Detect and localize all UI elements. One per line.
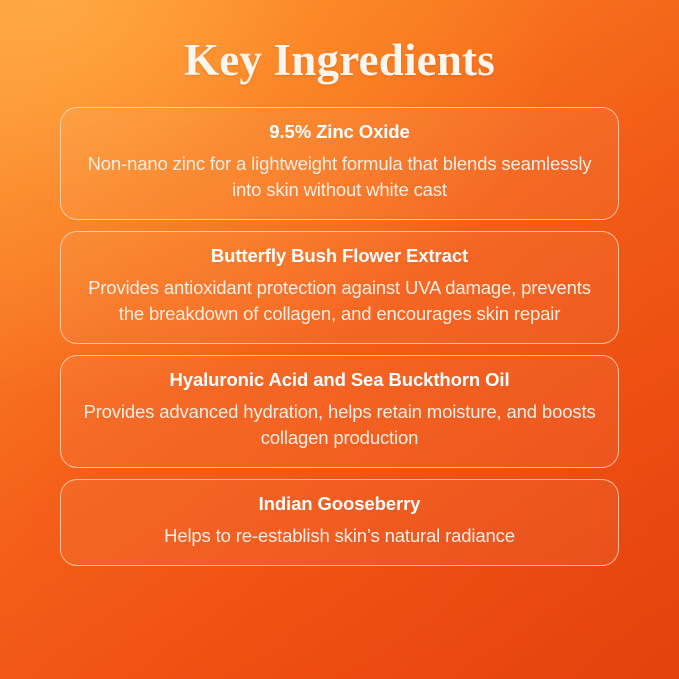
ingredient-description: Helps to re-establish skin’s natural rad… bbox=[79, 523, 600, 549]
ingredient-description: Provides antioxidant protection against … bbox=[79, 275, 600, 328]
page-title: Key Ingredients bbox=[60, 0, 619, 83]
poster-content: Key Ingredients 9.5% Zinc Oxide Non-nano… bbox=[0, 0, 679, 679]
ingredient-card-list: 9.5% Zinc Oxide Non-nano zinc for a ligh… bbox=[60, 107, 619, 566]
ingredient-card-indian-gooseberry: Indian Gooseberry Helps to re-establish … bbox=[60, 479, 619, 566]
ingredient-title: 9.5% Zinc Oxide bbox=[79, 121, 600, 144]
ingredient-card-hyaluronic-acid-sea-buckthorn-oil: Hyaluronic Acid and Sea Buckthorn Oil Pr… bbox=[60, 355, 619, 468]
ingredient-card-zinc-oxide: 9.5% Zinc Oxide Non-nano zinc for a ligh… bbox=[60, 107, 619, 220]
ingredient-title: Butterfly Bush Flower Extract bbox=[79, 245, 600, 268]
ingredient-title: Indian Gooseberry bbox=[79, 493, 600, 516]
ingredient-card-butterfly-bush-flower-extract: Butterfly Bush Flower Extract Provides a… bbox=[60, 231, 619, 344]
ingredient-title: Hyaluronic Acid and Sea Buckthorn Oil bbox=[79, 369, 600, 392]
key-ingredients-poster: Key Ingredients 9.5% Zinc Oxide Non-nano… bbox=[0, 0, 679, 679]
ingredient-description: Non-nano zinc for a lightweight formula … bbox=[79, 151, 600, 204]
ingredient-description: Provides advanced hydration, helps retai… bbox=[79, 399, 600, 452]
